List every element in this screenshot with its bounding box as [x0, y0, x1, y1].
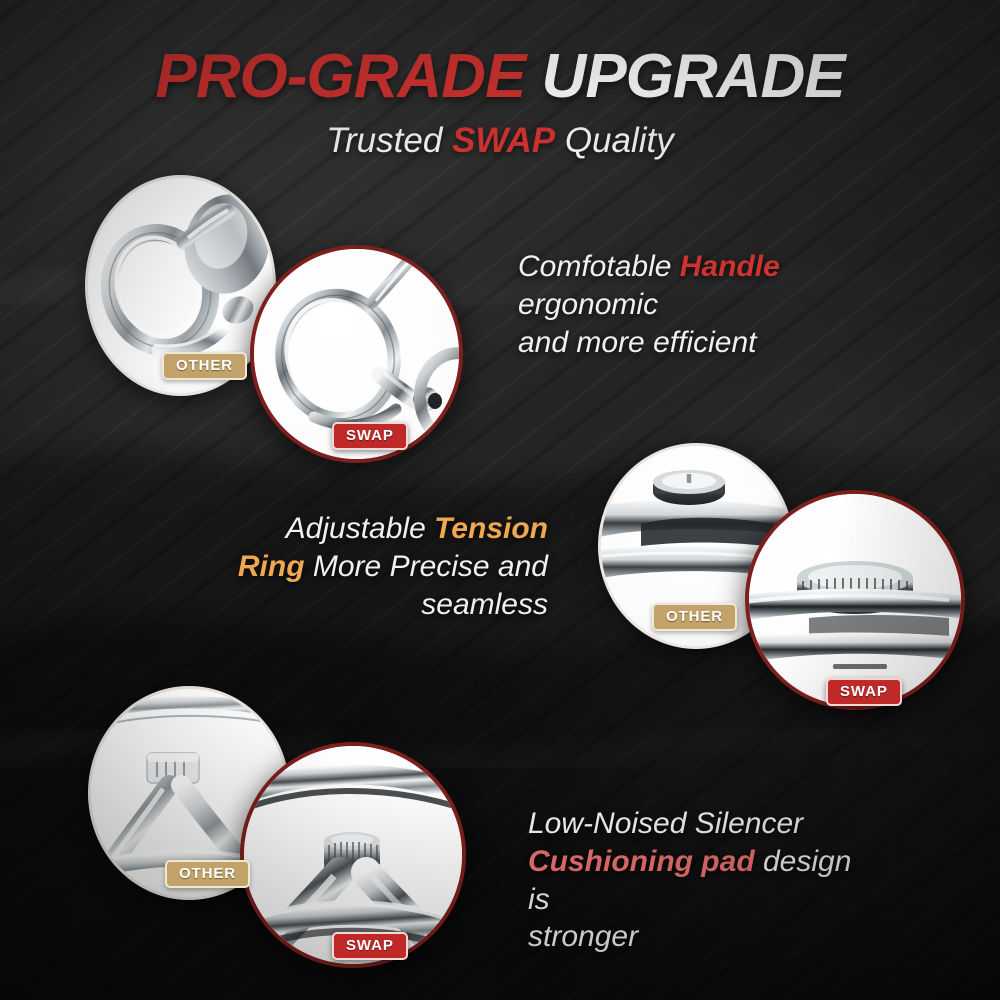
comparison-1-swap-badge: SWAP — [332, 422, 408, 450]
comparison-1-other-badge: OTHER — [162, 352, 247, 380]
vignette-overlay — [0, 0, 1000, 1000]
comparison-3-other-badge: OTHER — [165, 860, 250, 888]
comparison-2-other-badge: OTHER — [652, 603, 737, 631]
comparison-2-swap-badge: SWAP — [826, 678, 902, 706]
comparison-3-swap-badge: SWAP — [332, 932, 408, 960]
infographic-canvas: PRO-GRADE UPGRADE Trusted SWAP Quality — [0, 0, 1000, 1000]
